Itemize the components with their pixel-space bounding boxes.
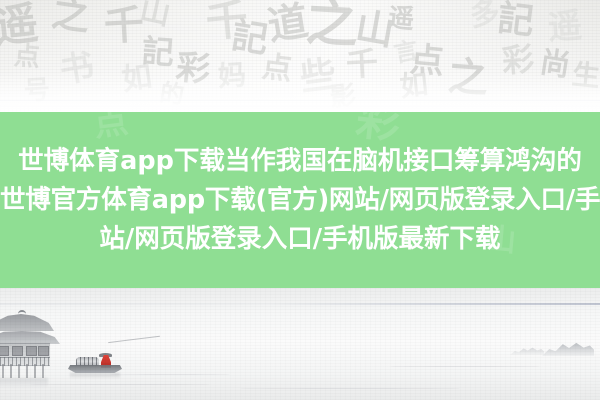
screenshot-root: 遥 点 之 书 千 山 記 如 彩 千 記 妈 道 点 之 些 山 千 遥 言 …	[0, 0, 600, 400]
headline-line-3: 站/网页版登录入口/手机版最新下载	[0, 220, 600, 259]
calligraphy-banner: 遥 点 之 书 千 山 記 如 彩 千 記 妈 道 点 之 些 山 千 遥 言 …	[0, 0, 600, 112]
green-headline-band: 彩 点 山 世博体育app下载当作我国在脑机接口筹算鸿沟的 世博官方体育app下…	[0, 112, 600, 288]
headline-line-2: 世博官方体育app下载(官方)网站/网页版登录入口/手	[0, 181, 600, 220]
headline-line-1: 世博体育app下载当作我国在脑机接口筹算鸿沟的	[0, 142, 600, 181]
misty-lake-photo	[0, 288, 600, 400]
headline-text: 世博体育app下载当作我国在脑机接口筹算鸿沟的 世博官方体育app下载(官方)网…	[0, 142, 600, 259]
paper-bottom-fade	[0, 72, 600, 112]
water-grain-texture	[0, 288, 600, 400]
band-ghost-glyph: 点	[92, 112, 130, 142]
